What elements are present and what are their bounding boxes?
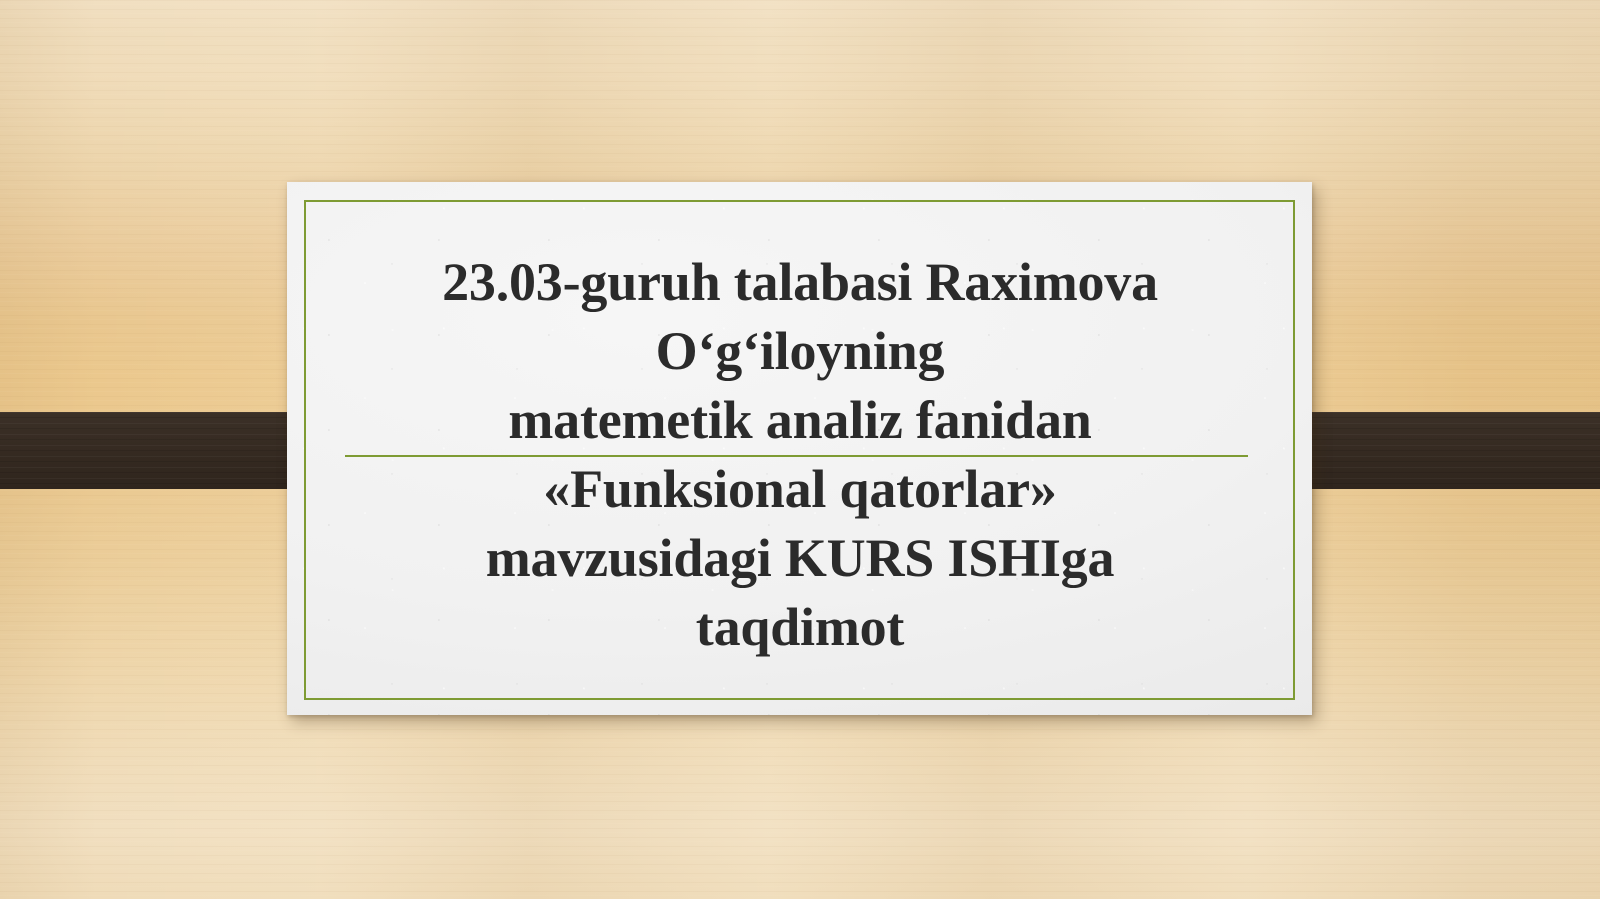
decorative-band-left xyxy=(0,412,322,489)
decorative-band-right xyxy=(1275,412,1600,489)
presentation-slide: 23.03-guruh talabasi Raximova O‘g‘iloyni… xyxy=(0,0,1600,899)
slide-title: 23.03-guruh talabasi Raximova O‘g‘iloyni… xyxy=(300,248,1300,662)
